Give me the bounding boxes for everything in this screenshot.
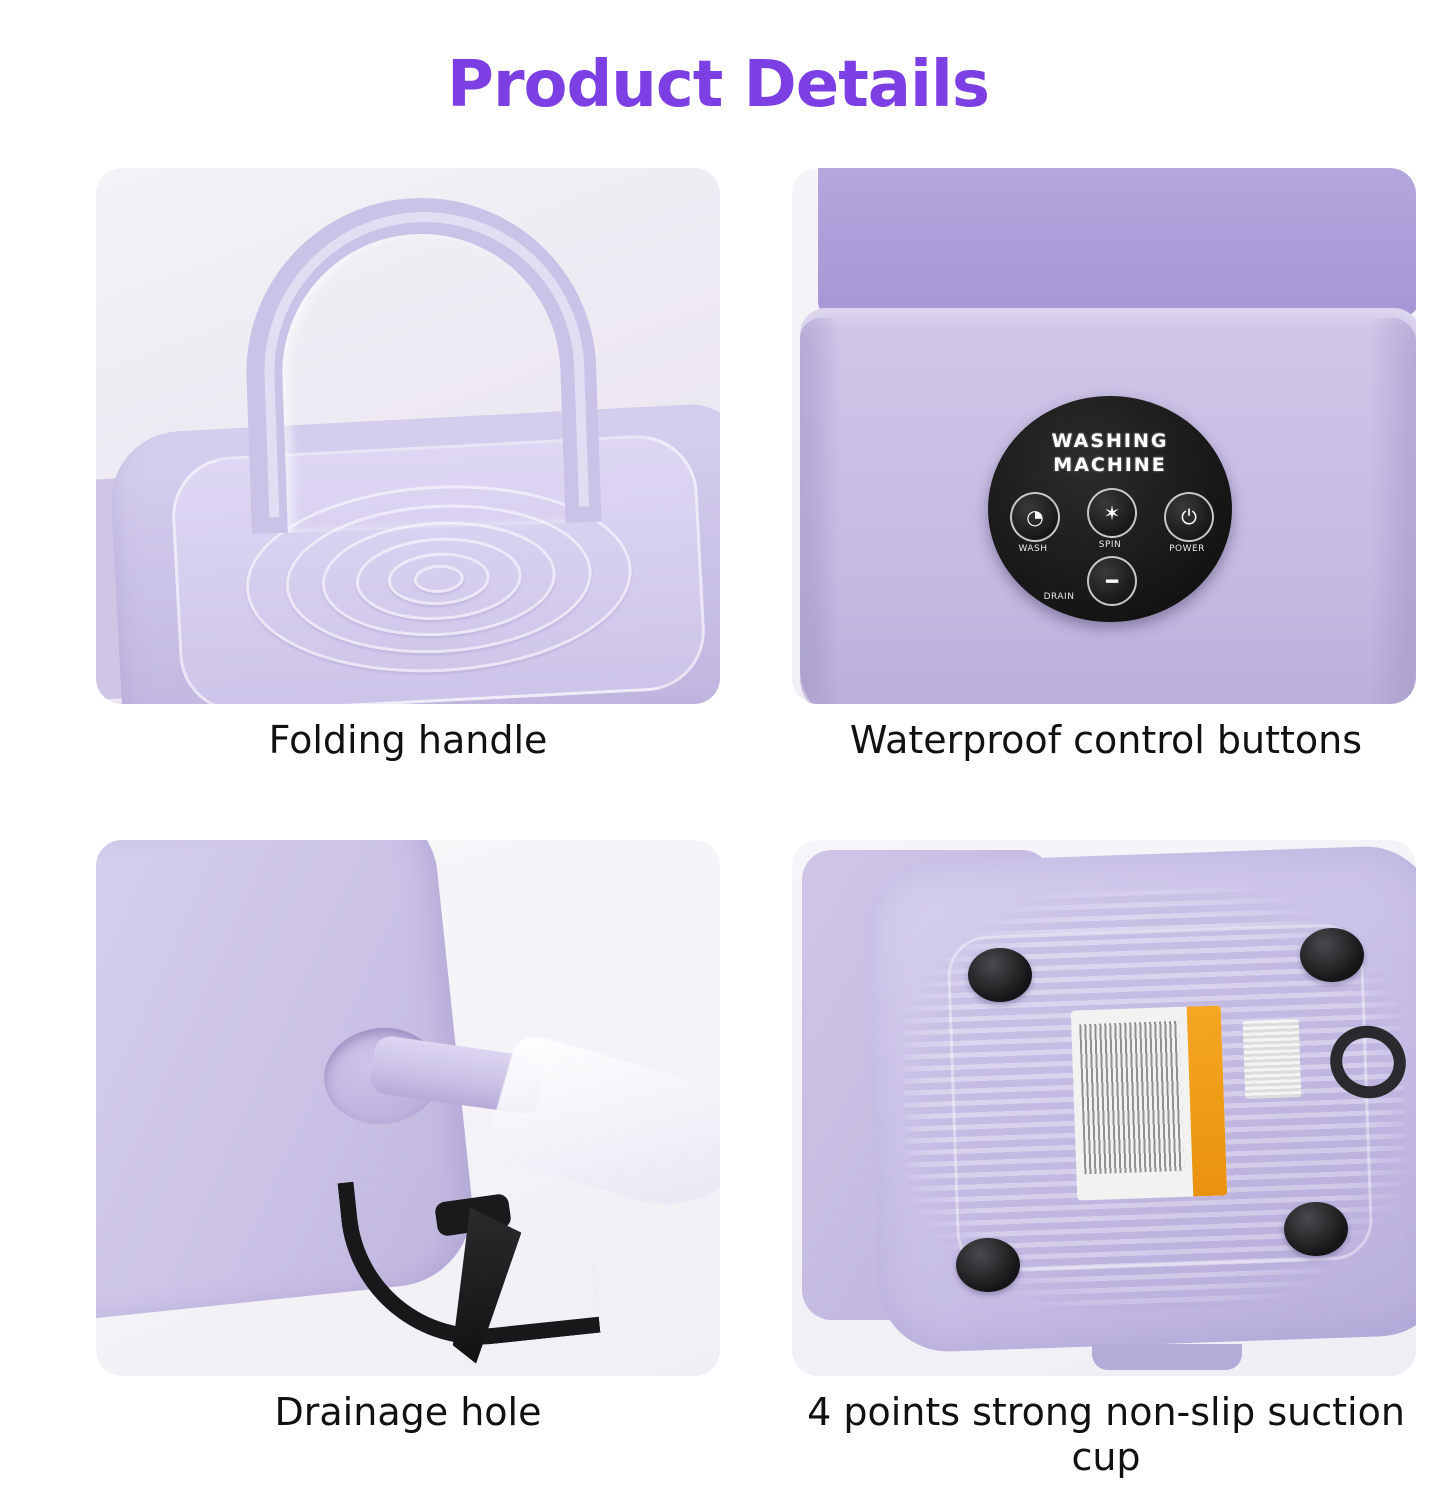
- page-title: Product Details: [0, 48, 1436, 122]
- power-button-label: POWER: [1152, 544, 1222, 554]
- suction-cup-bottom-left: [956, 1238, 1020, 1292]
- drain-button-label: DRAIN: [1024, 592, 1094, 602]
- photo-control-buttons: WASHING MACHINE ◔ WASH ✶ SPIN ⏻ POWER ━ …: [792, 168, 1416, 704]
- photo-folding-handle: [96, 168, 720, 704]
- barcode-sticker: [1243, 1019, 1302, 1099]
- body-edge-right: [1370, 318, 1416, 704]
- spin-button-label: SPIN: [1075, 540, 1145, 550]
- caption-control-buttons: Waterproof control buttons: [776, 718, 1436, 763]
- caption-suction-cups: 4 points strong non-slip suction cup: [776, 1390, 1436, 1480]
- wash-icon: ◔: [1026, 505, 1043, 529]
- brand-line-1: WASHING: [1052, 430, 1169, 452]
- base-bottom-tab: [1092, 1344, 1242, 1370]
- wash-button[interactable]: ◔: [1010, 492, 1060, 542]
- control-panel[interactable]: WASHING MACHINE ◔ WASH ✶ SPIN ⏻ POWER ━ …: [988, 396, 1232, 622]
- product-label: [1071, 1005, 1228, 1200]
- power-icon: ⏻: [1181, 505, 1197, 529]
- product-details-page: Product Details Folding handle: [0, 0, 1436, 1500]
- label-text-lines: [1079, 1021, 1184, 1174]
- power-button[interactable]: ⏻: [1164, 492, 1214, 542]
- suction-cup-top-right: [1300, 928, 1364, 982]
- brand-text: WASHING MACHINE: [988, 430, 1232, 478]
- spin-button[interactable]: ✶: [1087, 488, 1137, 538]
- suction-cup-bottom-right: [1284, 1202, 1348, 1256]
- machine-lid-top: [818, 168, 1416, 316]
- photo-drainage-hole: [96, 840, 720, 1376]
- suction-cup-top-left: [968, 948, 1032, 1002]
- label-orange-stripe: [1187, 1005, 1228, 1196]
- spin-icon: ✶: [1104, 501, 1121, 525]
- drain-icon: ━: [1106, 569, 1118, 593]
- wash-button-label: WASH: [998, 544, 1068, 554]
- body-edge-left: [800, 318, 840, 704]
- brand-line-2: MACHINE: [1053, 454, 1166, 476]
- photo-suction-cups: [792, 840, 1416, 1376]
- caption-drainage-hole: Drainage hole: [96, 1390, 720, 1435]
- caption-folding-handle: Folding handle: [96, 718, 720, 763]
- drain-button[interactable]: ━: [1087, 556, 1137, 606]
